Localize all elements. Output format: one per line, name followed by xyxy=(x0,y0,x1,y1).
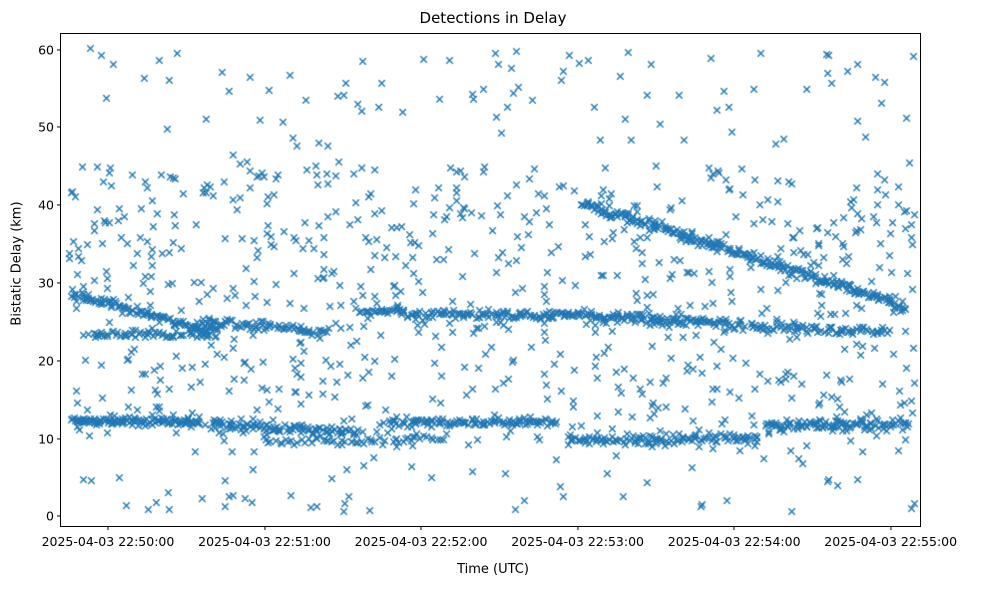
figure-canvas: Detections in Delay 0102030405060 2025-0… xyxy=(0,0,986,590)
x-tick-mark xyxy=(734,526,735,530)
page-title: Detections in Delay xyxy=(0,8,986,28)
x-tick-mark xyxy=(264,526,265,530)
x-tick-mark xyxy=(107,526,108,530)
y-tick-mark xyxy=(57,127,61,128)
y-tick-mark xyxy=(57,438,61,439)
x-axis-label: Time (UTC) xyxy=(0,562,986,577)
x-tick-mark xyxy=(577,526,578,530)
scatter-plot xyxy=(61,34,920,526)
y-axis-label: Bistatic Delay (km) xyxy=(10,17,25,511)
y-tick-mark xyxy=(57,360,61,361)
y-tick-mark xyxy=(57,49,61,50)
x-tick-mark xyxy=(421,526,422,530)
y-tick-mark xyxy=(57,282,61,283)
y-tick-mark xyxy=(57,205,61,206)
y-tick-mark xyxy=(57,516,61,517)
plot-area: 0102030405060 2025-04-03 22:50:002025-04… xyxy=(60,33,921,527)
x-tick-mark xyxy=(890,526,891,530)
